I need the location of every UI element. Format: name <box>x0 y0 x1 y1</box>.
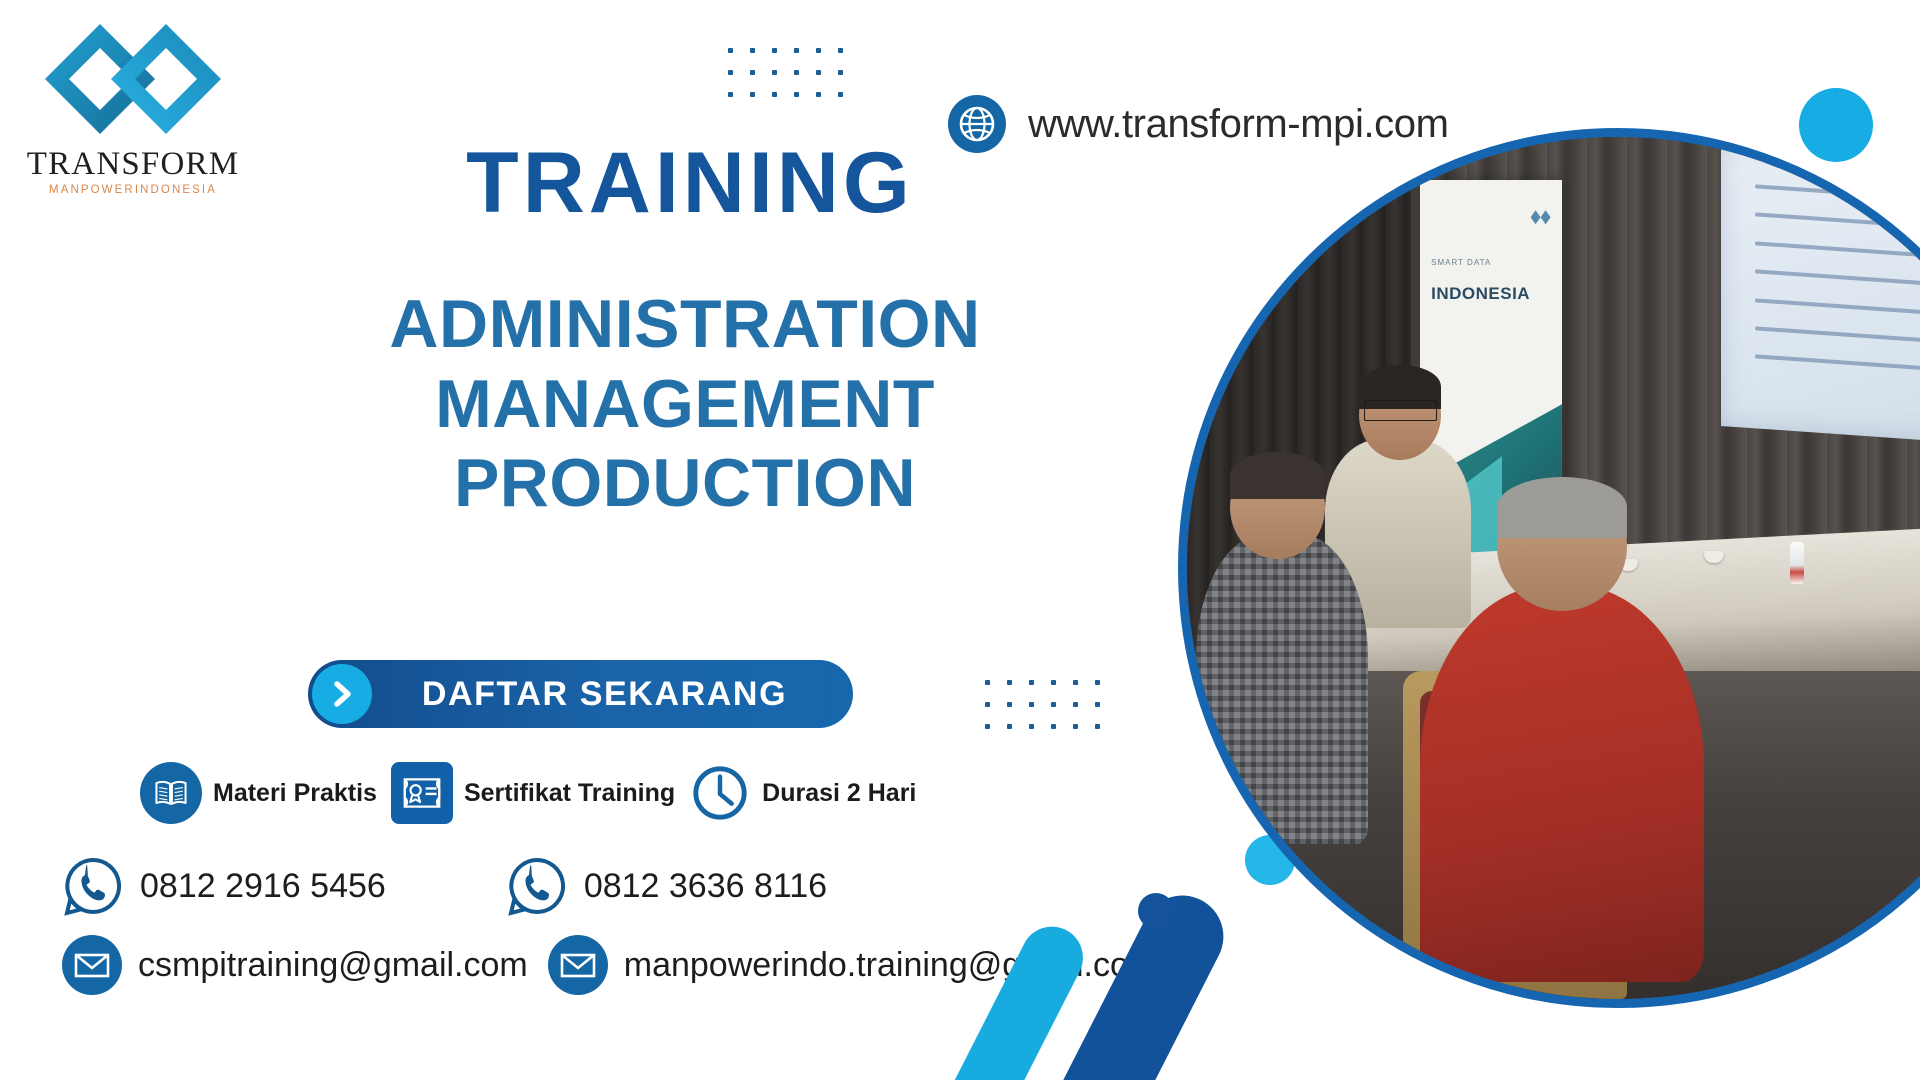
register-now-label: DAFTAR SEKARANG <box>372 675 853 714</box>
feature-label: Durasi 2 Hari <box>762 779 916 808</box>
phone-number[interactable]: 0812 3636 8116 <box>584 867 827 906</box>
certificate-icon <box>391 762 453 824</box>
logo-tagline: MANPOWERINDONESIA <box>18 184 248 196</box>
email-address[interactable]: csmpitraining@gmail.com <box>138 946 528 985</box>
envelope-icon <box>548 935 608 995</box>
phone-contact-row: 0812 2916 5456 0812 3636 8116 <box>62 855 827 917</box>
clock-icon <box>689 762 751 824</box>
course-title-line-2: MANAGEMENT <box>190 365 1180 445</box>
course-title-line-1: ADMINISTRATION <box>190 285 1180 365</box>
decor-dot-navy <box>1138 893 1174 929</box>
feature-item-durasi: Durasi 2 Hari <box>689 762 916 824</box>
feature-list: Materi Praktis Sertifikat Training <box>140 762 916 824</box>
brand-logo: TRANSFORM MANPOWERINDONESIA <box>18 18 248 196</box>
phone-contact-2[interactable]: 0812 3636 8116 <box>506 855 827 917</box>
feature-item-sertifikat-training: Sertifikat Training <box>391 762 675 824</box>
course-title: ADMINISTRATION MANAGEMENT PRODUCTION <box>190 285 1180 524</box>
envelope-icon <box>62 935 122 995</box>
promo-banner: TRANSFORM MANPOWERINDONESIA www.transfor… <box>0 0 1920 1080</box>
email-contact-1[interactable]: csmpitraining@gmail.com <box>62 935 528 995</box>
register-now-button[interactable]: DAFTAR SEKARANG <box>308 660 853 728</box>
rollup-banner-subtext: SMART DATA <box>1431 258 1491 267</box>
dot-pattern-top <box>728 48 843 97</box>
course-title-line-3: PRODUCTION <box>190 444 1180 524</box>
dot-pattern-middle <box>985 680 1100 729</box>
feature-item-materi-praktis: Materi Praktis <box>140 762 377 824</box>
phone-number[interactable]: 0812 2916 5456 <box>140 867 386 906</box>
whatsapp-icon <box>506 855 568 917</box>
rollup-banner-text: INDONESIA <box>1431 284 1530 304</box>
phone-contact-1[interactable]: 0812 2916 5456 <box>62 855 386 917</box>
open-book-icon <box>140 762 202 824</box>
whatsapp-icon <box>62 855 124 917</box>
feature-label: Sertifikat Training <box>464 779 675 808</box>
projector-screen <box>1721 142 1920 451</box>
page-title: TRAINING <box>280 140 1100 226</box>
chevron-right-icon <box>312 664 372 724</box>
training-photo: SMART DATA INDONESIA <box>1178 128 1920 1008</box>
email-contact-row: csmpitraining@gmail.com manpowerindo.tra… <box>62 935 1157 995</box>
training-photo-scene: SMART DATA INDONESIA <box>1187 137 1920 999</box>
interlocking-diamonds-logo-icon <box>43 18 223 146</box>
logo-wordmark: TRANSFORM <box>18 148 248 181</box>
feature-label: Materi Praktis <box>213 779 377 808</box>
